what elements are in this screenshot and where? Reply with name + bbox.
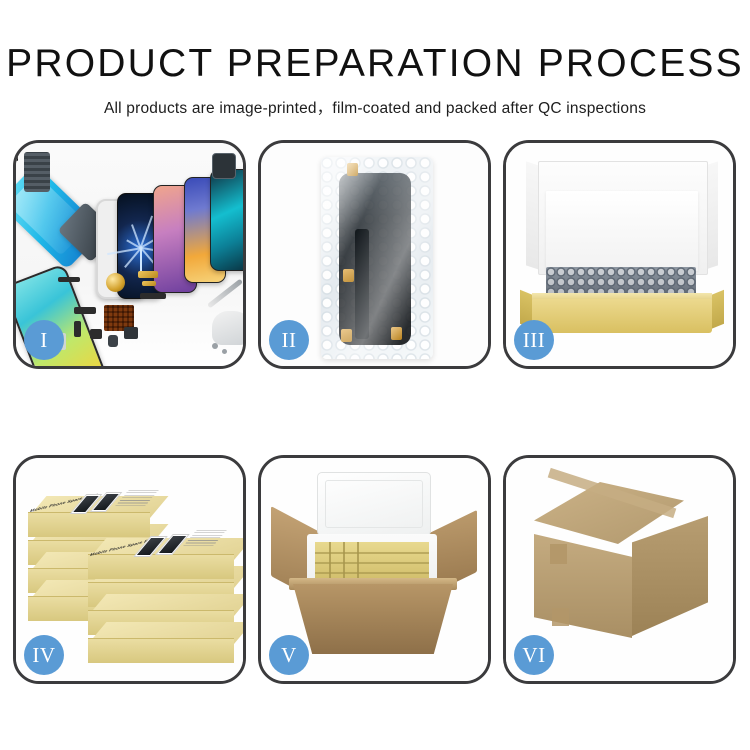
connector-part-icon	[58, 277, 80, 282]
flex-cable-icon	[74, 307, 96, 314]
screw-small-icon	[222, 349, 227, 354]
stacked-box-top-front	[88, 554, 234, 578]
camera-module-icon	[124, 327, 138, 339]
small-part-icon	[90, 329, 102, 339]
stacked-box-f3	[88, 638, 234, 662]
speaker-part-icon	[106, 273, 125, 292]
phone-screen-teal-icon	[210, 169, 243, 271]
foam-sheet-icon	[546, 191, 698, 271]
step-badge-1: I	[24, 320, 64, 360]
screw-icon	[212, 343, 218, 349]
bubble-wrap-bag-icon	[321, 157, 433, 359]
process-steps-grid: I II	[13, 140, 737, 692]
product-preparation-infographic: PRODUCT PREPARATION PROCESS All products…	[0, 0, 750, 750]
step-card-1: I	[13, 140, 246, 369]
step-badge-3: III	[514, 320, 554, 360]
gold-flex-icon	[138, 271, 158, 278]
box-stack: Mobile Phone Spare Parts Mobile Phone Sp…	[26, 486, 238, 666]
foam-box-lid-icon	[317, 472, 431, 536]
battery-part-icon	[108, 335, 118, 347]
carton-body-icon	[293, 584, 453, 654]
flex-cable-vertical-icon	[74, 321, 81, 337]
step-card-6: VI	[503, 455, 736, 684]
step-card-5: V	[258, 455, 491, 684]
box-base-icon	[532, 299, 712, 333]
tape-seal-upper-icon	[550, 544, 567, 564]
gloved-hand-icon	[212, 311, 243, 345]
step-card-4: Mobile Phone Spare Parts Mobile Phone Sp…	[13, 455, 246, 684]
step-badge-4: IV	[24, 635, 64, 675]
page-title: PRODUCT PREPARATION PROCESS	[0, 0, 750, 83]
plastic-sheen-icon	[321, 157, 433, 359]
step-card-3: III	[503, 140, 736, 369]
ribbon-cable-icon	[140, 293, 166, 299]
gold-flex-small-icon	[142, 281, 156, 286]
sealed-carton-front-icon	[534, 534, 632, 638]
disassembled-phone-icon	[16, 143, 18, 161]
tweezers-icon	[207, 279, 243, 309]
step-badge-6: VI	[514, 635, 554, 675]
step-badge-5: V	[269, 635, 309, 675]
step-badge-2: II	[269, 320, 309, 360]
sealed-carton-side-icon	[632, 516, 708, 636]
header: PRODUCT PREPARATION PROCESS All products…	[0, 0, 750, 118]
stacked-box-top-back	[28, 512, 150, 536]
step-card-2: II	[258, 140, 491, 369]
page-subtitle: All products are image-printed，film-coat…	[0, 83, 750, 118]
tape-seal-lower-icon	[552, 608, 569, 626]
